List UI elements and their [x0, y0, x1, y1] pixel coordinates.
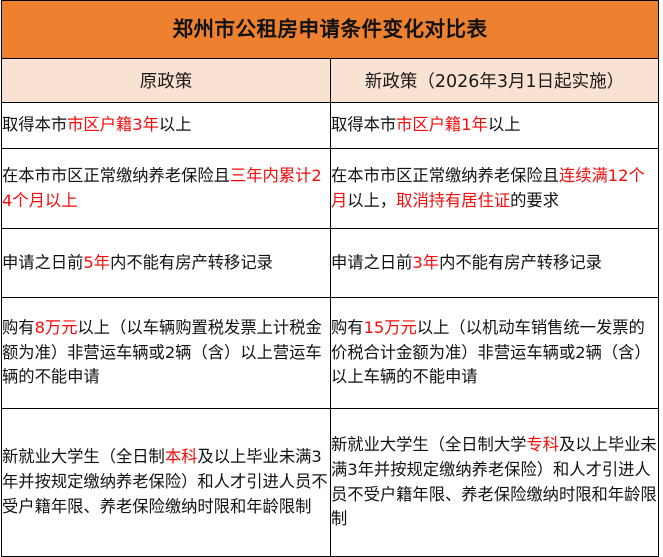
highlighted-text-segment: 8万元: [35, 318, 78, 337]
highlighted-text-segment: 专科: [526, 435, 559, 454]
cell-new-policy-5: 新就业大学生（全日制大学专科及以上毕业未满3年并按规定缴纳养老保险）和人才引进人…: [331, 409, 659, 557]
table-column-header-row: 原政策 新政策（2026年3月1日起实施）: [2, 59, 659, 103]
table-title-row: 郑州市公租房申请条件变化对比表: [2, 1, 659, 59]
cell-new-policy-3: 申请之日前3年内不能有房产转移记录: [331, 229, 659, 298]
text-segment: 购有: [331, 318, 364, 337]
text-segment: 取得本市: [2, 115, 67, 134]
text-segment: 在本市市区正常缴纳养老保险且: [2, 166, 230, 185]
highlighted-text-segment: 本科: [165, 447, 198, 466]
cell-new-policy-2: 在本市市区正常缴纳养老保险且连续满12个月以上，取消持有居住证的要求: [331, 149, 659, 229]
table-row: 在本市市区正常缴纳养老保险且三年内累计24个月以上 在本市市区正常缴纳养老保险且…: [2, 149, 659, 229]
table-row: 取得本市市区户籍3年以上 取得本市市区户籍1年以上: [2, 103, 659, 149]
text-segment: 购有: [2, 318, 35, 337]
highlighted-text-segment: 取消持有居住证: [396, 191, 510, 210]
cell-old-policy-2: 在本市市区正常缴纳养老保险且三年内累计24个月以上: [2, 149, 331, 229]
column-header-old-policy: 原政策: [2, 59, 331, 103]
highlighted-text-segment: 15万元: [364, 318, 417, 337]
cell-old-policy-5: 新就业大学生（全日制本科及以上毕业未满3年并按规定缴纳养老保险）和人才引进人员不…: [2, 409, 331, 557]
highlighted-text-segment: 市区户籍1年: [396, 115, 488, 134]
cell-new-policy-4: 购有15万元以上（以机动车销售统一发票的价税合计金额为准）非营运车辆或2辆（含）…: [331, 298, 659, 409]
comparison-table-container: 郑州市公租房申请条件变化对比表 原政策 新政策（2026年3月1日起实施） 取得…: [0, 0, 663, 554]
text-segment: 申请之日前: [331, 253, 412, 272]
table-title-cell: 郑州市公租房申请条件变化对比表: [2, 1, 659, 59]
highlighted-text-segment: 3年: [412, 253, 439, 272]
text-segment: 内不能有房产转移记录: [439, 253, 602, 272]
policy-comparison-table: 郑州市公租房申请条件变化对比表 原政策 新政策（2026年3月1日起实施） 取得…: [1, 0, 659, 557]
text-segment: 以上: [488, 115, 521, 134]
table-row: 新就业大学生（全日制本科及以上毕业未满3年并按规定缴纳养老保险）和人才引进人员不…: [2, 409, 659, 557]
table-row: 申请之日前5年内不能有房产转移记录 申请之日前3年内不能有房产转移记录: [2, 229, 659, 298]
table-row: 购有8万元以上（以车辆购置税发票上计税金额为准）非营运车辆或2辆（含）以上营运车…: [2, 298, 659, 409]
column-header-new-policy: 新政策（2026年3月1日起实施）: [331, 59, 659, 103]
text-segment: 以上: [159, 115, 192, 134]
text-segment: 申请之日前: [2, 253, 83, 272]
cell-new-policy-1: 取得本市市区户籍1年以上: [331, 103, 659, 149]
text-segment: 在本市市区正常缴纳养老保险且: [331, 166, 559, 185]
column-header-new-policy-label: 新政策（2026年3月1日起实施）: [365, 72, 624, 92]
text-segment: 新就业大学生（全日制: [2, 447, 165, 466]
highlighted-text-segment: 5年: [83, 253, 110, 272]
text-segment: 取得本市: [331, 115, 396, 134]
page-title: 郑州市公租房申请条件变化对比表: [173, 17, 488, 41]
highlighted-text-segment: 市区户籍3年: [67, 115, 159, 134]
text-segment: 内不能有房产转移记录: [110, 253, 273, 272]
cell-old-policy-4: 购有8万元以上（以车辆购置税发票上计税金额为准）非营运车辆或2辆（含）以上营运车…: [2, 298, 331, 409]
column-header-old-policy-label: 原政策: [140, 72, 193, 92]
cell-old-policy-3: 申请之日前5年内不能有房产转移记录: [2, 229, 331, 298]
text-segment: 新就业大学生（全日制大学: [331, 435, 526, 454]
text-segment: 的要求: [510, 191, 559, 210]
text-segment: 以上，: [347, 191, 396, 210]
cell-old-policy-1: 取得本市市区户籍3年以上: [2, 103, 331, 149]
